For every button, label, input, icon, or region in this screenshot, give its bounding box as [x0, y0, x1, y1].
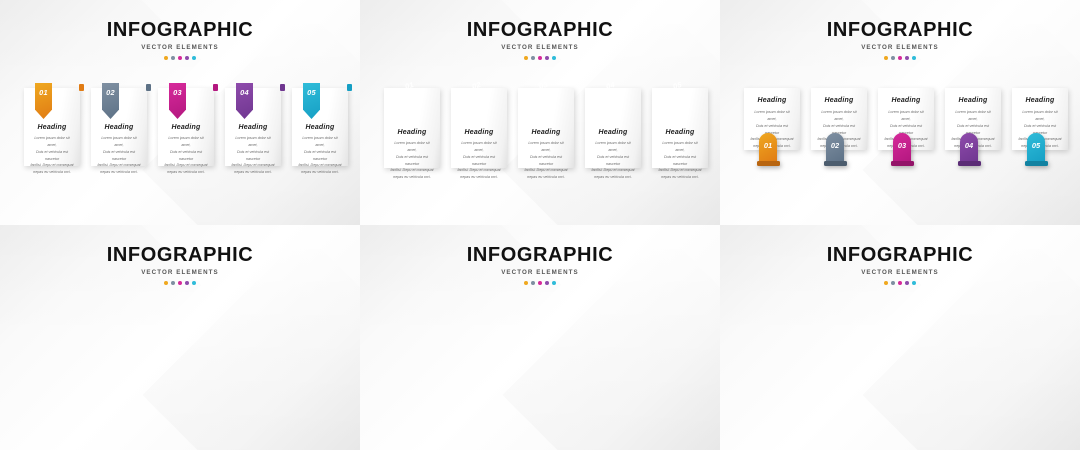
step-card[interactable]: 04HeadingLorem ipsum dolor sit amet,Duis… [585, 88, 641, 168]
body-line: Lorem ipsum dolor sit amet, [298, 135, 342, 149]
card-body-text: Lorem ipsum dolor sit amet,Duis et vehic… [158, 135, 214, 176]
step-number: 05 [307, 88, 316, 97]
title-block: INFOGRAPHIC VECTOR ELEMENTS [720, 20, 1080, 60]
palette-dot-amber [884, 281, 888, 285]
panel-dome-markers: INFOGRAPHIC VECTOR ELEMENTS HeadingLorem… [720, 0, 1080, 225]
pin-tab-icon [280, 84, 285, 91]
page-subtitle: VECTOR ELEMENTS [0, 44, 360, 51]
body-line: Lorem ipsum dolor sit amet, [390, 140, 434, 154]
body-line: facilisi. Depu et consequat [524, 167, 568, 174]
infographic-sheet: INFOGRAPHIC VECTOR ELEMENTS 01HeadingLor… [0, 0, 1080, 450]
palette-dot-cyan [552, 56, 556, 60]
palette-dot-slate [891, 56, 895, 60]
body-line: Lorem ipsum dolor sit amet, [457, 140, 501, 154]
step-number: 03 [173, 88, 182, 97]
card-body-text: Lorem ipsum dolor sit amet,Duis et vehic… [24, 135, 80, 176]
palette-dots [720, 281, 1080, 285]
card-heading: Heading [292, 124, 348, 131]
pin-marker-icon[interactable]: 04 [236, 83, 253, 119]
body-line: facilisi. Depu et consequat [30, 162, 74, 169]
dome-foot-icon [891, 161, 914, 166]
palette-dot-purple [545, 281, 549, 285]
body-line: Duis et vehicula est nascetur [524, 154, 568, 168]
step-number: 02 [106, 88, 115, 97]
dome-marker-icon[interactable]: 04 [960, 133, 978, 162]
page-title: INFOGRAPHIC [360, 20, 720, 40]
step-card[interactable]: 02HeadingLorem ipsum dolor sit amet,Duis… [451, 88, 507, 168]
title-block: INFOGRAPHIC VECTOR ELEMENTS [0, 245, 360, 285]
palette-dot-cyan [192, 56, 196, 60]
body-line: Lorem ipsum dolor sit amet, [97, 135, 141, 149]
body-line: Lorem ipsum dolor sit amet, [164, 135, 208, 149]
body-line: Duis et vehicula est nascetur [591, 154, 635, 168]
dome-marker-icon[interactable]: 03 [893, 133, 911, 162]
step-card[interactable]: 03HeadingLorem ipsum dolor sit amet,Duis… [518, 88, 574, 168]
palette-dot-slate [171, 56, 175, 60]
palette-dots [0, 56, 360, 60]
card-body-text: Lorem ipsum dolor sit amet,Duis et vehic… [225, 135, 281, 176]
page-subtitle: VECTOR ELEMENTS [360, 269, 720, 276]
palette-dot-purple [545, 56, 549, 60]
step-card[interactable]: 01HeadingLorem ipsum dolor sit amet,Duis… [384, 88, 440, 168]
panel-curled-ribbons: INFOGRAPHIC VECTOR ELEMENTS 01HeadingLor… [360, 0, 720, 225]
page-subtitle: VECTOR ELEMENTS [0, 269, 360, 276]
body-line: nepas eu vehicula orci. [30, 169, 74, 176]
pin-marker-icon[interactable]: 01 [35, 83, 52, 119]
step-number: 01 [764, 141, 772, 150]
palette-dot-amber [524, 56, 528, 60]
dome-foot-icon [1025, 161, 1048, 166]
step-number: 03 [898, 141, 906, 150]
body-line: Duis et vehicula est nascetur [231, 149, 275, 163]
steps-row: 01HeadingLorem ipsum dolor sit amet,Duis… [24, 88, 348, 166]
card-body-text: Lorem ipsum dolor sit amet,Duis et vehic… [292, 135, 348, 176]
palette-dot-amber [524, 281, 528, 285]
card-heading: Heading [1012, 97, 1068, 104]
body-line: nepas eu vehicula orci. [164, 169, 208, 176]
palette-dot-cyan [192, 281, 196, 285]
palette-dot-slate [891, 281, 895, 285]
pin-tab-icon [79, 84, 84, 91]
step-card[interactable]: HeadingLorem ipsum dolor sit amet,Duis e… [1012, 88, 1068, 150]
body-line: Duis et vehicula est nascetur [457, 154, 501, 168]
body-line: Duis et vehicula est nascetur [298, 149, 342, 163]
palette-dot-purple [905, 56, 909, 60]
page-subtitle: VECTOR ELEMENTS [360, 44, 720, 51]
body-line: facilisi. Depu et consequat [164, 162, 208, 169]
step-number: 02 [831, 141, 839, 150]
dome-marker-icon[interactable]: 01 [759, 133, 777, 162]
body-line: Duis et vehicula est nascetur [390, 154, 434, 168]
palette-dot-magenta [898, 281, 902, 285]
step-card[interactable]: 02HeadingLorem ipsum dolor sit amet,Duis… [91, 88, 147, 166]
title-block: INFOGRAPHIC VECTOR ELEMENTS [360, 245, 720, 285]
palette-dot-magenta [898, 56, 902, 60]
curled-ribbon-icon[interactable]: 04 [591, 76, 625, 120]
card-body-text: Lorem ipsum dolor sit amet,Duis et vehic… [652, 140, 708, 181]
page-title: INFOGRAPHIC [720, 20, 1080, 40]
step-number: 01 [39, 88, 48, 97]
palette-dots [720, 56, 1080, 60]
page-subtitle: VECTOR ELEMENTS [720, 269, 1080, 276]
pin-marker-icon[interactable]: 02 [102, 83, 119, 119]
body-line: facilisi. Depu et consequat [658, 167, 702, 174]
body-line: facilisi. Depu et consequat [231, 162, 275, 169]
body-line: Lorem ipsum dolor sit amet, [658, 140, 702, 154]
step-card[interactable]: HeadingLorem ipsum dolor sit amet,Duis e… [811, 88, 867, 150]
palette-dot-slate [531, 56, 535, 60]
palette-dot-cyan [912, 56, 916, 60]
body-line: Lorem ipsum dolor sit amet, [750, 109, 794, 123]
curled-ribbon-icon[interactable]: 02 [457, 76, 491, 120]
dome-foot-icon [958, 161, 981, 166]
palette-dots [360, 56, 720, 60]
dome-foot-icon [757, 161, 780, 166]
body-line: facilisi. Depu et consequat [591, 167, 635, 174]
steps-row: 01HeadingLorem ipsum dolor sit amet,Duis… [384, 88, 708, 168]
palette-dot-amber [884, 56, 888, 60]
card-heading: Heading [158, 124, 214, 131]
step-number: 04 [240, 88, 249, 97]
card-heading: Heading [945, 97, 1001, 104]
page-title: INFOGRAPHIC [0, 245, 360, 265]
steps-row: HeadingLorem ipsum dolor sit amet,Duis e… [744, 88, 1068, 150]
page-title: INFOGRAPHIC [360, 245, 720, 265]
panel-pin-markers: INFOGRAPHIC VECTOR ELEMENTS 01HeadingLor… [0, 0, 360, 225]
curled-ribbon-icon[interactable]: 01 [390, 76, 424, 120]
body-line: Duis et vehicula est nascetur [658, 154, 702, 168]
card-heading: Heading [451, 129, 507, 136]
curled-ribbon-icon[interactable]: 05 [658, 76, 692, 120]
body-line: nepas eu vehicula orci. [390, 174, 434, 181]
card-body-text: Lorem ipsum dolor sit amet,Duis et vehic… [585, 140, 641, 181]
body-line: Duis et vehicula est nascetur [97, 149, 141, 163]
card-heading: Heading [24, 124, 80, 131]
card-heading: Heading [384, 129, 440, 136]
palette-dot-slate [171, 281, 175, 285]
title-block: INFOGRAPHIC VECTOR ELEMENTS [720, 245, 1080, 285]
title-block: INFOGRAPHIC VECTOR ELEMENTS [0, 20, 360, 60]
palette-dot-cyan [912, 281, 916, 285]
palette-dot-magenta [178, 281, 182, 285]
card-heading: Heading [744, 97, 800, 104]
dome-marker-icon[interactable]: 02 [826, 133, 844, 162]
body-line: nepas eu vehicula orci. [298, 169, 342, 176]
body-line: Lorem ipsum dolor sit amet, [591, 140, 635, 154]
body-line: facilisi. Depu et consequat [390, 167, 434, 174]
card-body-text: Lorem ipsum dolor sit amet,Duis et vehic… [518, 140, 574, 181]
body-line: facilisi. Depu et consequat [97, 162, 141, 169]
palette-dot-cyan [552, 281, 556, 285]
pin-tab-icon [146, 84, 151, 91]
step-card[interactable]: HeadingLorem ipsum dolor sit amet,Duis e… [878, 88, 934, 150]
pin-marker-icon[interactable]: 05 [303, 83, 320, 119]
page-title: INFOGRAPHIC [720, 245, 1080, 265]
body-line: nepas eu vehicula orci. [97, 169, 141, 176]
step-card[interactable]: HeadingLorem ipsum dolor sit amet,Duis e… [744, 88, 800, 150]
card-body-text: Lorem ipsum dolor sit amet,Duis et vehic… [384, 140, 440, 181]
body-line: Lorem ipsum dolor sit amet, [951, 109, 995, 123]
palette-dot-purple [185, 281, 189, 285]
step-card[interactable]: HeadingLorem ipsum dolor sit amet,Duis e… [945, 88, 1001, 150]
body-line: Lorem ipsum dolor sit amet, [884, 109, 928, 123]
card-heading: Heading [225, 124, 281, 131]
palette-dot-magenta [538, 281, 542, 285]
palette-dot-amber [164, 56, 168, 60]
panel-bookmark-ribbons: INFOGRAPHIC VECTOR ELEMENTS HeadingLorem… [360, 225, 720, 450]
page-title: INFOGRAPHIC [0, 20, 360, 40]
body-line: Lorem ipsum dolor sit amet, [231, 135, 275, 149]
body-line: nepas eu vehicula orci. [231, 169, 275, 176]
body-line: nepas eu vehicula orci. [524, 174, 568, 181]
pin-marker-icon[interactable]: 03 [169, 83, 186, 119]
card-body-text: Lorem ipsum dolor sit amet,Duis et vehic… [91, 135, 147, 176]
body-line: Lorem ipsum dolor sit amet, [30, 135, 74, 149]
card-heading: Heading [878, 97, 934, 104]
body-line: Lorem ipsum dolor sit amet, [524, 140, 568, 154]
card-heading: Heading [585, 129, 641, 136]
step-card[interactable]: 05HeadingLorem ipsum dolor sit amet,Duis… [652, 88, 708, 168]
palette-dot-amber [164, 281, 168, 285]
palette-dot-slate [531, 281, 535, 285]
step-card[interactable]: 03HeadingLorem ipsum dolor sit amet,Duis… [158, 88, 214, 166]
body-line: nepas eu vehicula orci. [658, 174, 702, 181]
body-line: facilisi. Depu et consequat [298, 162, 342, 169]
panel-horizontal-banners: INFOGRAPHIC VECTOR ELEMENTS 01HeadingLor… [720, 225, 1080, 450]
dome-foot-icon [824, 161, 847, 166]
step-card[interactable]: 04HeadingLorem ipsum dolor sit amet,Duis… [225, 88, 281, 166]
pin-tab-icon [213, 84, 218, 91]
palette-dots [360, 281, 720, 285]
dome-marker-icon[interactable]: 05 [1027, 133, 1045, 162]
pin-tab-icon [347, 84, 352, 91]
card-body-text: Lorem ipsum dolor sit amet,Duis et vehic… [451, 140, 507, 181]
card-heading: Heading [91, 124, 147, 131]
body-line: nepas eu vehicula orci. [457, 174, 501, 181]
step-number: 04 [965, 141, 973, 150]
palette-dot-magenta [178, 56, 182, 60]
step-number: 05 [1032, 141, 1040, 150]
palette-dots [0, 281, 360, 285]
card-heading: Heading [652, 129, 708, 136]
palette-dot-purple [905, 281, 909, 285]
palette-dot-purple [185, 56, 189, 60]
panel-number-blocks: INFOGRAPHIC VECTOR ELEMENTS 01HeadingLor… [0, 225, 360, 450]
title-block: INFOGRAPHIC VECTOR ELEMENTS [360, 20, 720, 60]
card-heading: Heading [811, 97, 867, 104]
body-line: Lorem ipsum dolor sit amet, [1018, 109, 1062, 123]
body-line: Duis et vehicula est nascetur [30, 149, 74, 163]
page-subtitle: VECTOR ELEMENTS [720, 44, 1080, 51]
step-card[interactable]: 01HeadingLorem ipsum dolor sit amet,Duis… [24, 88, 80, 166]
body-line: nepas eu vehicula orci. [591, 174, 635, 181]
curled-ribbon-icon[interactable]: 03 [524, 76, 558, 120]
card-heading: Heading [518, 129, 574, 136]
step-card[interactable]: 05HeadingLorem ipsum dolor sit amet,Duis… [292, 88, 348, 166]
palette-dot-magenta [538, 56, 542, 60]
body-line: Duis et vehicula est nascetur [164, 149, 208, 163]
body-line: facilisi. Depu et consequat [457, 167, 501, 174]
body-line: Lorem ipsum dolor sit amet, [817, 109, 861, 123]
